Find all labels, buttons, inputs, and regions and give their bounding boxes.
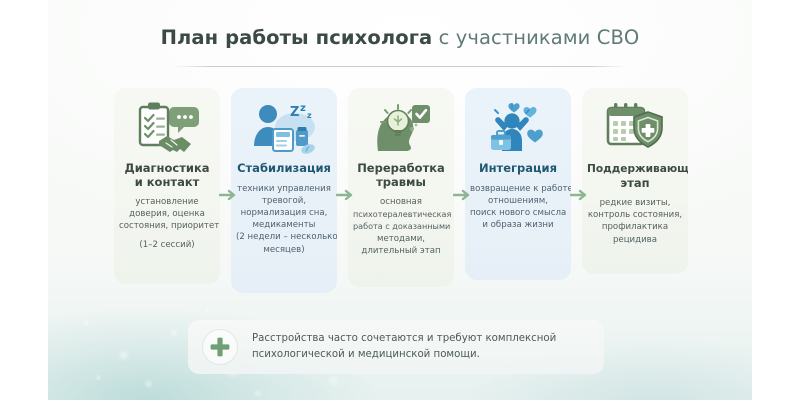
- stage-desc-pererabotka-travmy: основная психотералевтическая работа с д…: [353, 196, 449, 257]
- stage-desc-podderzhivayushchiy-etap: редкие визиты, контроль состояния, профи…: [587, 197, 683, 246]
- svg-text:z: z: [307, 111, 312, 120]
- stage-desc-stabilizaciya: техники управления тревогой, нормализаци…: [236, 183, 332, 256]
- title-divider: [174, 66, 626, 67]
- arrow-right-icon-3: [453, 188, 471, 202]
- stage-card-podderzhivayushchiy-etap[interactable]: Поддерживающий этап редкие визиты, контр…: [582, 88, 688, 274]
- page-title-light: с участниками СВО: [439, 26, 640, 49]
- stage-desc-diagnostika: установление доверия, оценка состояния, …: [119, 196, 215, 251]
- person-sleep-medication-icon: Z z z: [236, 97, 332, 159]
- stage-cards-row: Диагностика и контакт установление довер…: [114, 88, 688, 293]
- bottom-note-text: Расстройства часто сочетаются и требуют …: [252, 331, 556, 363]
- svg-text:Z: Z: [290, 105, 299, 120]
- stage-title-stabilizaciya: Стабилизация: [236, 162, 332, 176]
- person-hearts-briefcase-icon: [470, 97, 566, 159]
- calendar-shield-cross-icon: [587, 97, 683, 159]
- stage-desc-integraciya: возвращение к работе, отношениям, поиск …: [470, 183, 566, 232]
- stage-card-pererabotka-travmy[interactable]: Переработка травмы основная психотералев…: [348, 88, 454, 287]
- stage-card-integraciya[interactable]: Интеграция возвращение к работе, отношен…: [465, 88, 571, 280]
- stage-title-integraciya: Интеграция: [470, 162, 566, 176]
- arrow-right-icon-4: [570, 188, 588, 202]
- clipboard-checklist-handshake-icon: [119, 97, 215, 159]
- stage-title-pererabotka-travmy: Переработка травмы: [353, 162, 449, 189]
- page-title: План работы психолога с участниками СВО: [0, 26, 800, 50]
- infographic-poster: План работы психолога с участниками СВО: [0, 0, 800, 400]
- stage-card-stabilizaciya[interactable]: Z z z: [231, 88, 337, 293]
- stage-title-podderzhivayushchiy-etap: Поддерживающий этап: [587, 162, 683, 190]
- svg-text:z: z: [300, 103, 306, 114]
- medical-cross-icon: [202, 329, 238, 365]
- stage-card-diagnostika[interactable]: Диагностика и контакт установление довер…: [114, 88, 220, 284]
- head-lightbulb-checkmark-icon: [353, 97, 449, 159]
- bottom-note-banner: Расстройства часто сочетаются и требуют …: [188, 320, 604, 374]
- arrow-right-icon-2: [336, 188, 354, 202]
- arrow-right-icon-1: [219, 188, 237, 202]
- stage-title-diagnostika: Диагностика и контакт: [119, 162, 215, 189]
- page-title-strong: План работы психолога: [161, 26, 433, 49]
- page-header: План работы психолога с участниками СВО: [0, 26, 800, 50]
